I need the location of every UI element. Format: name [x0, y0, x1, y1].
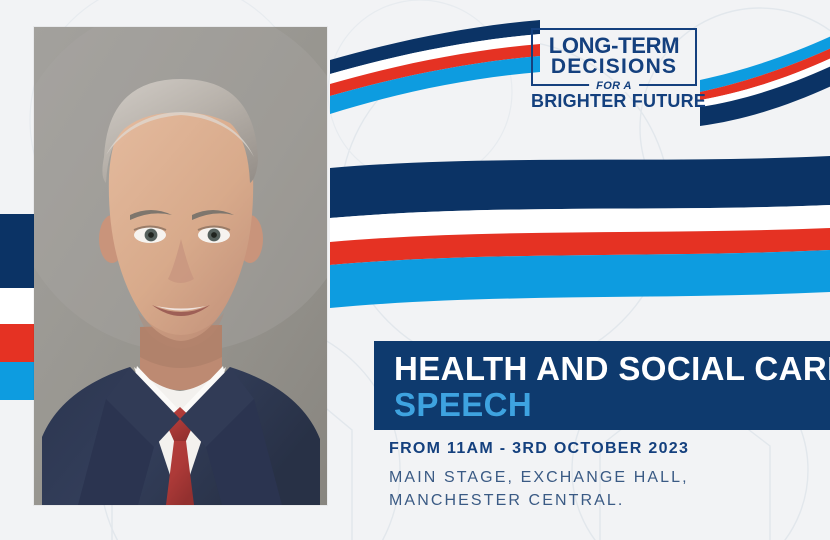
logo-connector: FOR A — [589, 80, 639, 92]
event-promo-graphic: LONG-TERM DECISIONS FOR A BRIGHTER FUTUR… — [0, 0, 830, 540]
event-time: FROM 11AM - 3RD OCTOBER 2023 — [389, 438, 809, 459]
event-details: FROM 11AM - 3RD OCTOBER 2023 MAIN STAGE,… — [389, 438, 809, 512]
event-location-line-1: MAIN STAGE, EXCHANGE HALL, — [389, 466, 809, 489]
campaign-logo: LONG-TERM DECISIONS FOR A BRIGHTER FUTUR… — [531, 28, 697, 110]
logo-line-2: DECISIONS — [540, 56, 688, 77]
ribbon-top-left — [330, 18, 540, 133]
title-secondary: SPEECH — [394, 387, 532, 423]
title-primary: HEALTH AND SOCIAL CARE — [394, 351, 830, 387]
logo-line-3: BRIGHTER FUTURE — [531, 92, 697, 111]
event-location: MAIN STAGE, EXCHANGE HALL, MANCHESTER CE… — [389, 466, 809, 512]
logo-box: LONG-TERM DECISIONS FOR A — [531, 28, 697, 86]
ribbon-top-right — [700, 8, 830, 128]
speaker-portrait-photo — [34, 27, 327, 505]
ribbon-main-band — [330, 150, 830, 310]
title-banner: HEALTH AND SOCIAL CARE SPEECH — [374, 341, 830, 430]
event-location-line-2: MANCHESTER CENTRAL. — [389, 489, 809, 512]
logo-line-1: LONG-TERM — [540, 35, 688, 56]
